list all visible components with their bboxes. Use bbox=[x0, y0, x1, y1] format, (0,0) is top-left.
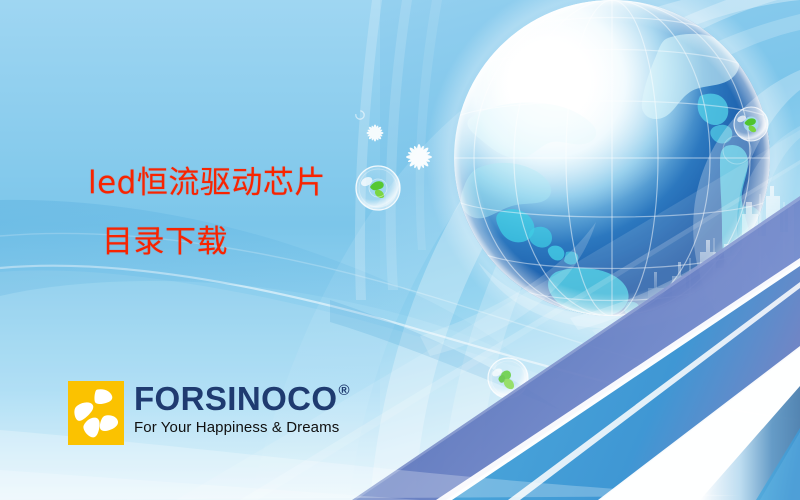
company-logo: FORSINOCO® For Your Happiness & Dreams bbox=[68, 381, 350, 445]
logo-company-name: FORSINOCO bbox=[134, 382, 337, 415]
headline-line-2: 目录下载 bbox=[88, 224, 326, 261]
logo-text-block: FORSINOCO® For Your Happiness & Dreams bbox=[134, 381, 350, 435]
slide-canvas: led恒流驱动芯片 目录下载 bbox=[0, 0, 800, 500]
registered-trademark-icon: ® bbox=[338, 383, 349, 398]
logo-wordmark: FORSINOCO® bbox=[134, 382, 350, 415]
slide-headline: led恒流驱动芯片 目录下载 bbox=[88, 165, 326, 260]
pinwheel-petals bbox=[68, 381, 124, 445]
headline-line-1: led恒流驱动芯片 bbox=[88, 165, 326, 202]
four-petal-pinwheel-icon bbox=[68, 381, 124, 445]
logo-tagline: For Your Happiness & Dreams bbox=[134, 420, 350, 435]
